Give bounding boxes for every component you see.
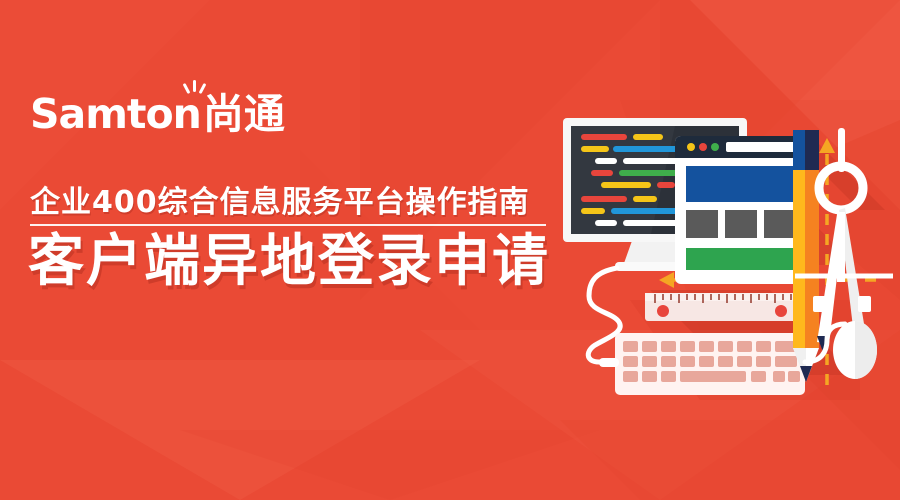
pencil-icon <box>793 130 819 382</box>
browser-tile <box>725 210 757 238</box>
subtitle-underline <box>30 224 546 226</box>
browser-dot-green <box>711 143 719 151</box>
arrow-left-icon <box>659 272 674 288</box>
browser-footer-bar <box>686 248 796 270</box>
arrow-up-icon <box>819 138 835 153</box>
browser-window-icon <box>675 136 807 284</box>
keyboard-icon <box>599 333 805 395</box>
workstation-illustration <box>555 100 900 400</box>
banner-title: 客户端异地登录申请 <box>28 231 550 294</box>
browser-hero-banner <box>686 166 796 202</box>
sparkle-burst-icon <box>182 79 208 95</box>
brand-logo[interactable]: Samton 尚通 <box>30 88 285 140</box>
banner-subtitle: 企业400综合信息服务平台操作指南 <box>30 186 530 221</box>
ruler-icon <box>645 293 805 321</box>
browser-tile <box>686 210 718 238</box>
browser-tile <box>764 210 796 238</box>
logo-chinese-text: 尚通 <box>203 94 285 135</box>
browser-dot-red <box>699 143 707 151</box>
logo-latin-text: Samton <box>30 94 201 135</box>
browser-url-bar <box>726 142 800 152</box>
browser-dot-yellow <box>687 143 695 151</box>
promo-banner: Samton 尚通 企业400综合信息服务平台操作指南 客户端异地登录申请 <box>0 0 900 500</box>
